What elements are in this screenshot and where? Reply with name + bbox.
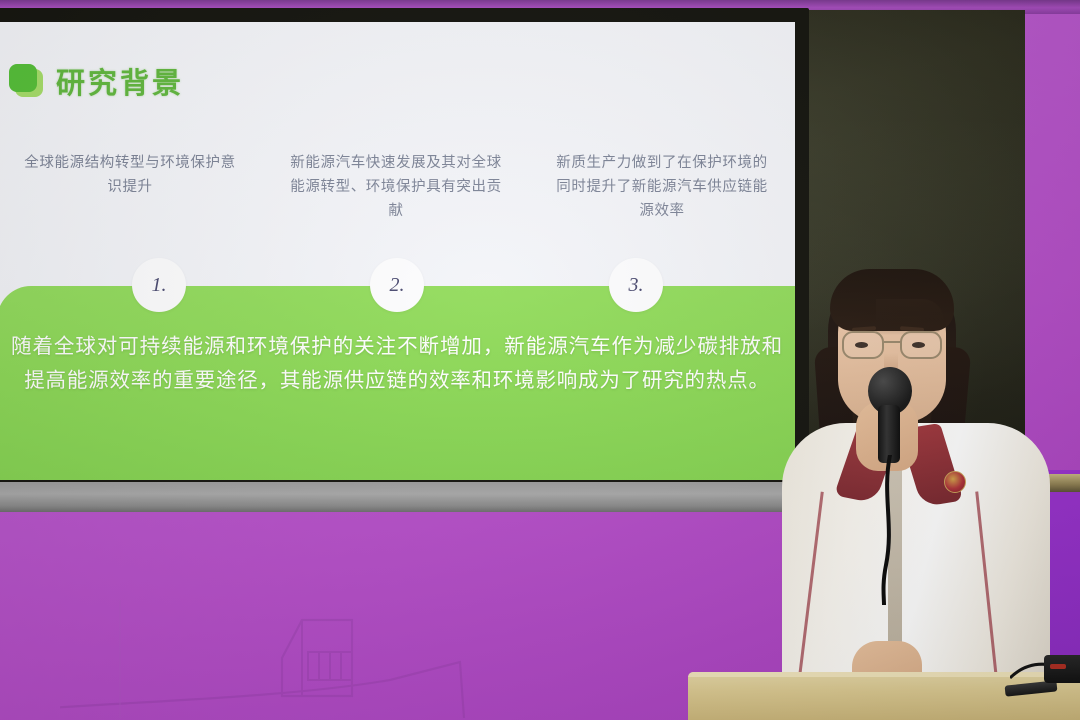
- classroom-display: 研究背景 全球能源结构转型与环境保护意识提升 新能源汽车快速发展及其对全球能源转…: [0, 8, 809, 506]
- slide-columns: 全球能源结构转型与环境保护意识提升 新能源汽车快速发展及其对全球能源转型、环境保…: [0, 152, 795, 272]
- av-control-box[interactable]: [1044, 655, 1080, 683]
- step-number-2: 2.: [370, 258, 424, 312]
- highlight-band: 随着全球对可持续能源和环境保护的关注不断增加，新能源汽车作为减少碳排放和提高能源…: [0, 286, 795, 480]
- hair-fringe: [830, 269, 954, 331]
- student-speaker: [760, 255, 1080, 720]
- boat-line-drawing-icon: [60, 600, 530, 720]
- school-emblem-icon: [944, 471, 966, 493]
- highlight-paragraph: 随着全球对可持续能源和环境保护的关注不断增加，新能源汽车作为减少碳排放和提高能源…: [11, 330, 783, 399]
- step-number-3: 3.: [609, 258, 663, 312]
- slide-title: 研究背景: [56, 60, 184, 102]
- presentation-slide: 研究背景 全球能源结构转型与环境保护意识提升 新能源汽车快速发展及其对全球能源转…: [0, 22, 795, 480]
- presentation-photo: 研究背景 全球能源结构转型与环境保护意识提升 新能源汽车快速发展及其对全球能源转…: [0, 0, 1080, 720]
- column-3-text: 新质生产力做到了在保护环境的同时提升了新能源汽车供应链能源效率: [529, 152, 795, 272]
- step-number-1: 1.: [132, 258, 186, 312]
- rounded-square-icon: [9, 64, 43, 98]
- slide-title-row: 研究背景: [9, 60, 184, 102]
- display-bezel: [0, 482, 799, 512]
- column-1-text: 全球能源结构转型与环境保护意识提升: [0, 152, 263, 272]
- microphone-cable: [860, 455, 926, 605]
- column-2-text: 新能源汽车快速发展及其对全球能源转型、环境保护具有突出贡献: [263, 152, 529, 272]
